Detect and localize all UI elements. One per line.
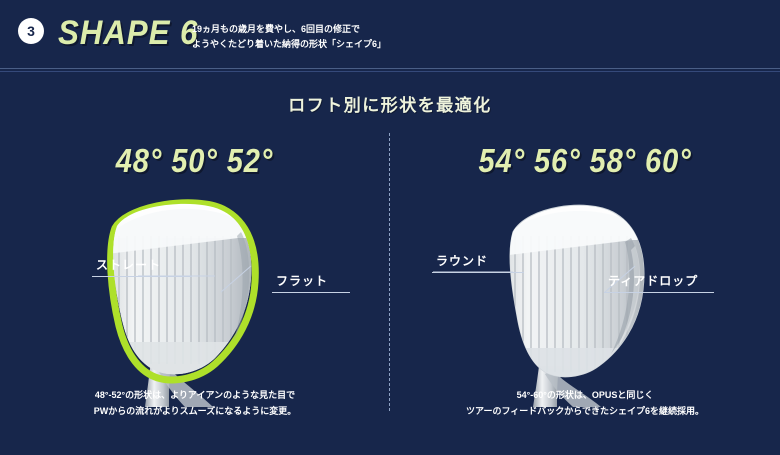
loft-list-low-text: 48° 50° 52° — [116, 142, 274, 180]
callout-straight-rule — [92, 276, 192, 277]
slide-header: 3 SHAPE 6 19ヵ月もの歳月を費やし、6回目の修正で ようやくたどり着い… — [0, 0, 780, 70]
callout-round-label: ラウンド — [432, 252, 524, 272]
caption-low-loft-line-1: 48°-52°の形状は、よりアイアンのような見た目で — [5, 388, 385, 404]
section-number-badge: 3 — [18, 18, 44, 44]
callout-round: ラウンド — [432, 252, 524, 273]
callout-straight-label: ストレート — [92, 256, 192, 276]
callout-teardrop-rule — [604, 292, 714, 293]
club-head-low-loft-svg — [45, 192, 345, 407]
club-head-high-loft-svg — [435, 192, 735, 407]
caption-high-loft-line-1: 54°-60°の形状は、OPUSと同じく — [395, 388, 775, 404]
callout-flat: フラット — [272, 272, 350, 293]
header-divider-line-top — [0, 68, 780, 69]
caption-high-loft-line-2: ツアーのフィードバックからできたシェイプ6を継続採用。 — [395, 404, 775, 420]
callout-teardrop-label: ティアドロップ — [604, 272, 714, 292]
page-title: SHAPE 6 — [58, 14, 198, 53]
section-heading: ロフト別に形状を最適化 — [0, 91, 780, 116]
callout-straight: ストレート — [92, 256, 192, 277]
caption-high-loft: 54°-60°の形状は、OPUSと同じく ツアーのフィードバックからできたシェイ… — [395, 388, 775, 420]
club-head-high-loft — [395, 192, 775, 407]
loft-list-low: 48° 50° 52° — [5, 142, 385, 180]
caption-low-loft-line-2: PWからの流れがよりスムーズになるように変更。 — [5, 404, 385, 420]
callout-flat-label: フラット — [272, 272, 350, 292]
callout-teardrop: ティアドロップ — [604, 272, 714, 293]
panel-high-loft: 54° 56° 58° 60° — [395, 130, 775, 420]
header-subtitle-line-1: 19ヵ月もの歳月を費やし、6回目の修正で — [192, 22, 386, 37]
loft-list-high: 54° 56° 58° 60° — [395, 142, 775, 180]
caption-low-loft: 48°-52°の形状は、よりアイアンのような見た目で PWからの流れがよりスムー… — [5, 388, 385, 420]
callout-flat-rule — [272, 292, 350, 293]
header-divider-line-bottom — [0, 71, 780, 72]
header-subtitle: 19ヵ月もの歳月を費やし、6回目の修正で ようやくたどり着いた納得の形状「シェイ… — [192, 22, 386, 52]
club-face-high — [501, 211, 649, 380]
club-head-low-loft — [5, 192, 385, 407]
slide-root: 3 SHAPE 6 19ヵ月もの歳月を費やし、6回目の修正で ようやくたどり着い… — [0, 0, 780, 455]
panel-divider — [389, 133, 390, 411]
header-divider — [0, 68, 780, 73]
loft-list-high-text: 54° 56° 58° 60° — [478, 142, 691, 180]
header-subtitle-line-2: ようやくたどり着いた納得の形状「シェイプ6」 — [192, 37, 386, 52]
callout-round-rule — [432, 272, 524, 273]
